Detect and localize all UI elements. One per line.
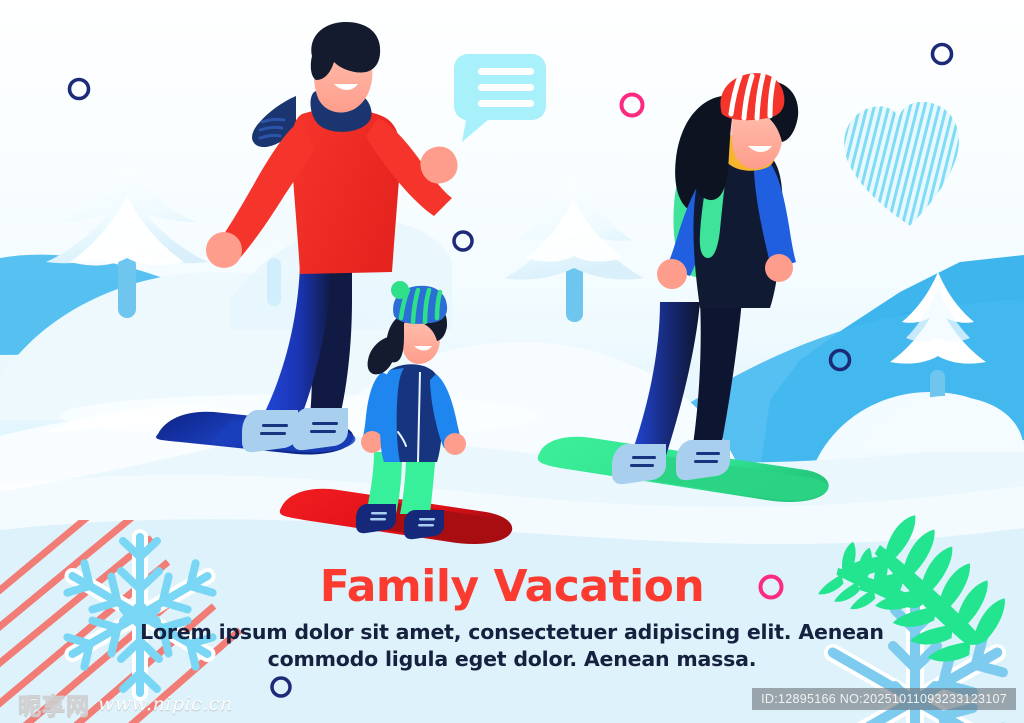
watermark-id-label: ID:12895166 NO:20251011093233123107 bbox=[752, 688, 1016, 710]
watermark-brand: 昵享网 www.nipic.cn bbox=[18, 687, 233, 721]
daughter-pompom bbox=[391, 281, 409, 299]
father-boot-back bbox=[292, 408, 348, 450]
father-hand-right bbox=[420, 146, 457, 183]
daughter-hand-front bbox=[444, 433, 466, 455]
daughter-boot-back bbox=[404, 510, 444, 539]
father-hand-left bbox=[206, 232, 242, 268]
poster-canvas: Family Vacation Lorem ipsum dolor sit am… bbox=[0, 0, 1024, 723]
watermark-bar: 昵享网 www.nipic.cn ID:12895166 NO:20251011… bbox=[0, 681, 1024, 723]
watermark-site-name-cn: 昵享网 bbox=[18, 687, 90, 721]
poster-text-block: Family Vacation Lorem ipsum dolor sit am… bbox=[0, 565, 1024, 673]
father-boot-front bbox=[242, 410, 298, 452]
daughter-boot-front bbox=[356, 504, 396, 533]
body-line-2: commodo ligula eget dolor. Aenean massa. bbox=[0, 646, 1024, 673]
watermark-site-url: www.nipic.cn bbox=[98, 693, 233, 715]
daughter-hand-back bbox=[361, 431, 383, 453]
page-title: Family Vacation bbox=[0, 565, 1024, 609]
body-line-1: Lorem ipsum dolor sit amet, consectetuer… bbox=[0, 619, 1024, 646]
mother-hand-front bbox=[765, 254, 793, 282]
mother-hand-back bbox=[657, 259, 687, 289]
